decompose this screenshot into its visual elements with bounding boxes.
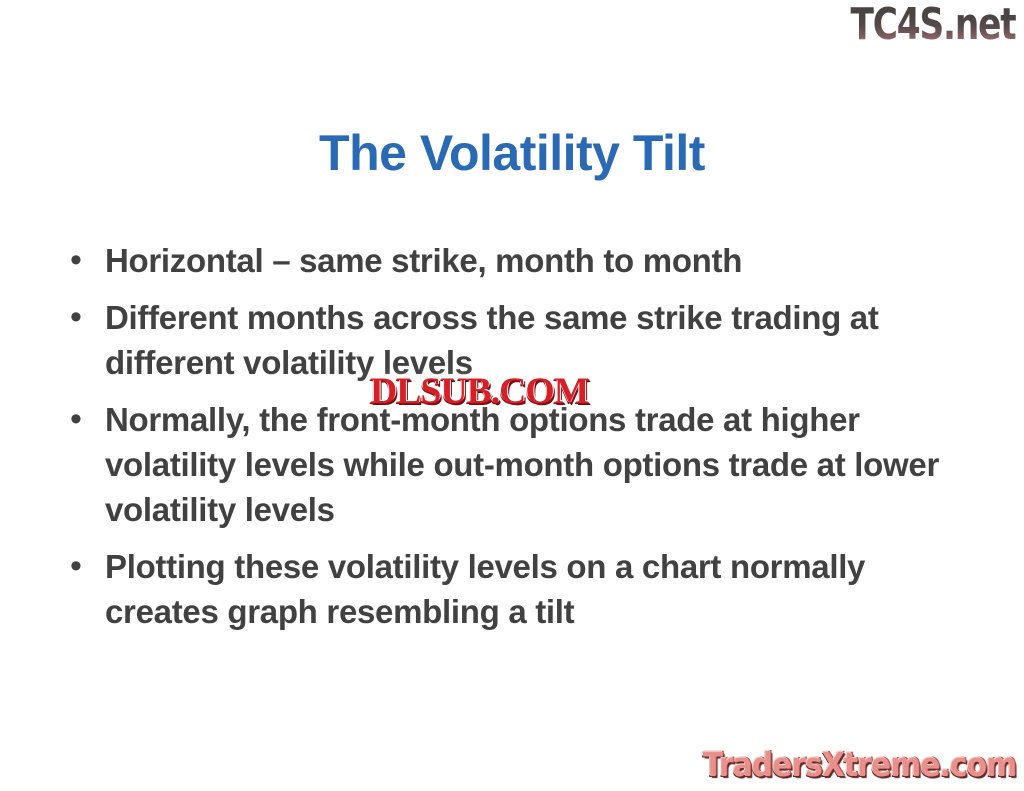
bullet-point-icon: • [62,544,105,589]
bullet-text: Normally, the front-month options trade … [105,397,967,532]
list-item: • Plotting these volatility levels on a … [62,544,982,634]
tc4s-watermark: TC4S.net [851,2,1016,48]
list-item: • Horizontal – same strike, month to mon… [62,238,982,283]
bullet-text: Plotting these volatility levels on a ch… [105,544,967,634]
bullet-point-icon: • [62,397,105,442]
bullet-point-icon: • [62,238,105,283]
bullet-list: • Horizontal – same strike, month to mon… [62,238,982,646]
tradersxtreme-watermark: TradersXtreme.com [703,747,1016,783]
list-item: • Normally, the front-month options trad… [62,397,982,532]
bullet-point-icon: • [62,295,105,340]
page-title: The Volatility Tilt [0,124,1024,182]
presentation-slide: TC4S.net TC4S.net The Volatility Tilt • … [0,0,1024,791]
bullet-text: Horizontal – same strike, month to month [105,238,967,283]
dlsub-watermark: DLSUB.COM [370,373,588,410]
